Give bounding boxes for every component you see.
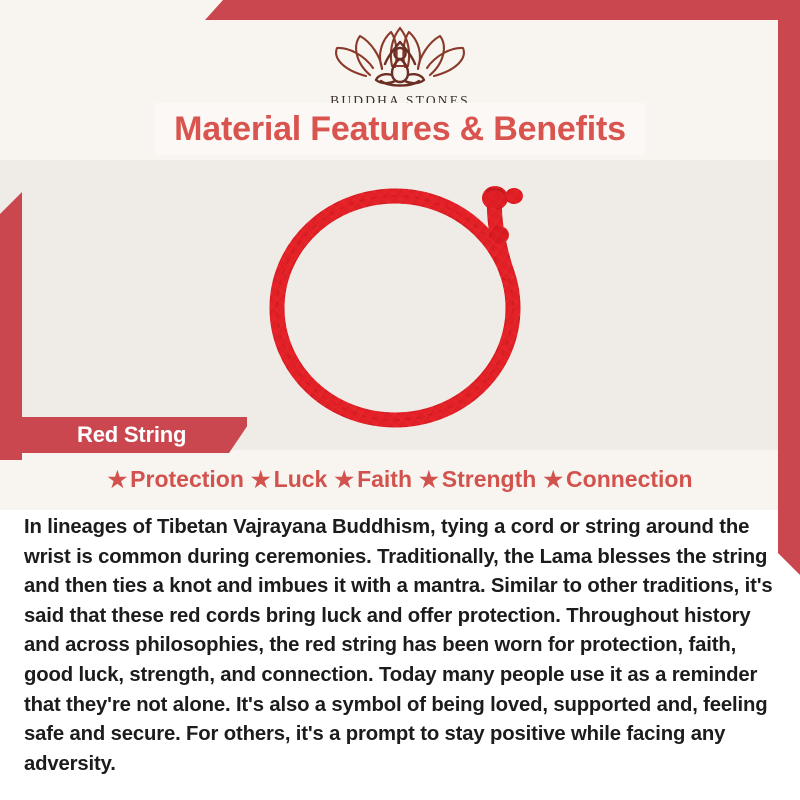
star-icon: ★ xyxy=(334,469,354,491)
benefit-label: Protection xyxy=(130,466,244,493)
decor-top-red-bar xyxy=(205,0,800,20)
brand-logo: BUDDHA STONES xyxy=(0,18,800,109)
star-icon: ★ xyxy=(107,469,127,491)
lotus-meditation-figure-logo-icon xyxy=(325,18,475,90)
product-image-area xyxy=(0,160,800,445)
benefit-item-strength: ★ Strength xyxy=(419,466,536,493)
star-icon: ★ xyxy=(543,469,563,491)
product-name-ribbon: Red String xyxy=(22,417,247,453)
star-icon: ★ xyxy=(251,469,271,491)
benefit-label: Luck xyxy=(274,466,328,493)
product-name-label: Red String xyxy=(77,422,186,448)
headline-banner: Material Features & Benefits xyxy=(155,103,645,155)
benefit-label: Connection xyxy=(566,466,693,493)
benefit-item-faith: ★ Faith xyxy=(334,466,412,493)
benefit-item-luck: ★ Luck xyxy=(251,466,327,493)
benefit-label: Strength xyxy=(442,466,537,493)
description-paragraph: In lineages of Tibetan Vajrayana Buddhis… xyxy=(24,513,776,779)
page-title: Material Features & Benefits xyxy=(174,110,626,149)
benefit-label: Faith xyxy=(357,466,412,493)
benefit-item-connection: ★ Connection xyxy=(543,466,692,493)
benefit-item-protection: ★ Protection xyxy=(107,466,243,493)
star-icon: ★ xyxy=(419,469,439,491)
red-string-bracelet-image xyxy=(245,165,555,440)
benefits-list: ★ Protection ★ Luck ★ Faith ★ Strength ★… xyxy=(0,466,800,493)
infographic-page: BUDDHA STONES Material Features & Benefi… xyxy=(0,0,800,800)
